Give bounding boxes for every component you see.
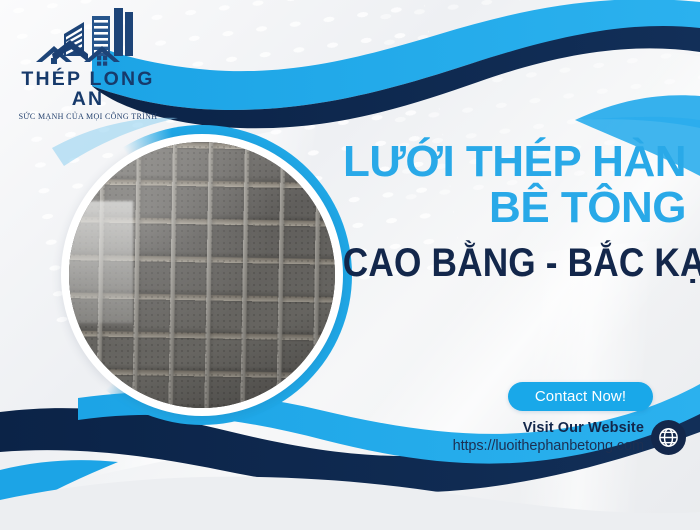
headline-block: LƯỚI THÉP HÀN BÊ TÔNG CAO BẰNG - BẮC KẠN: [296, 140, 686, 283]
website-text: Visit Our Website https://luoithephanbet…: [453, 420, 644, 454]
headline-line-2: BÊ TÔNG: [296, 185, 686, 231]
website-title: Visit Our Website: [453, 420, 644, 437]
logo-tagline: SỨC MẠNH CỦA MỌI CÔNG TRÌNH: [12, 113, 164, 121]
wave-bottom-pale: [0, 477, 700, 530]
contact-now-button[interactable]: Contact Now!: [508, 382, 653, 411]
headline-line-1: LƯỚI THÉP HÀN: [296, 140, 686, 183]
logo-brand-name: THÉP LONG AN: [12, 70, 164, 109]
globe-icon: [651, 420, 686, 455]
building-house-logo-icon: [30, 6, 146, 68]
promo-banner: THÉP LONG AN SỨC MẠNH CỦA MỌI CÔNG TRÌNH…: [0, 0, 700, 530]
website-block[interactable]: Visit Our Website https://luoithephanbet…: [453, 420, 686, 455]
website-url[interactable]: https://luoithephanbetong.com: [453, 438, 644, 455]
headline-line-3: CAO BẰNG - BẮC KẠN: [343, 243, 686, 283]
brand-logo[interactable]: THÉP LONG AN SỨC MẠNH CỦA MỌI CÔNG TRÌNH: [12, 6, 164, 121]
